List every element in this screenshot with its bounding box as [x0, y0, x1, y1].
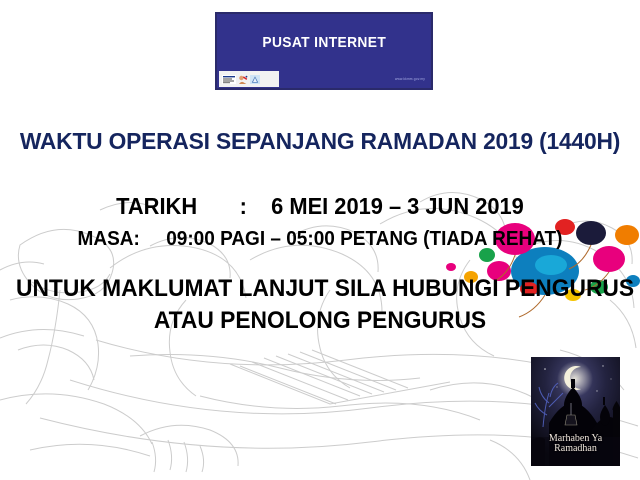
banner-logo-group — [219, 71, 279, 87]
banner-footer-strip: www.kkmm.gov.my — [217, 70, 431, 88]
banner-title: PUSAT INTERNET — [262, 34, 386, 51]
tarikh-line: TARIKH : 6 MEI 2019 – 3 JUN 2019 — [16, 193, 624, 220]
ramadan-greeting-image: Marhaben Ya Ramadhan — [531, 357, 620, 466]
poster-canvas: PUSAT INTERNET — [0, 0, 640, 480]
ramadan-caption: Marhaben Ya Ramadhan — [531, 434, 620, 454]
pusat-internet-banner: PUSAT INTERNET — [215, 12, 433, 90]
banner-main-area: PUSAT INTERNET — [217, 14, 431, 70]
page-title: WAKTU OPERASI SEPANJANG RAMADAN 2019 (14… — [10, 128, 631, 155]
contact-line-2: ATAU PENOLONG PENGURUS — [16, 307, 624, 335]
agency-logo-1-icon — [222, 75, 236, 84]
ramadan-caption-line-2: Ramadhan — [531, 444, 620, 454]
agency-logo-3-icon — [250, 75, 260, 84]
contact-line-1: UNTUK MAKLUMAT LANJUT SILA HUBUNGI PENGU… — [16, 275, 624, 303]
agency-logo-2-icon — [238, 75, 248, 84]
masa-line: MASA: 09:00 PAGI – 05:00 PETANG (TIADA R… — [16, 228, 624, 251]
banner-url-text: www.kkmm.gov.my — [395, 77, 425, 81]
